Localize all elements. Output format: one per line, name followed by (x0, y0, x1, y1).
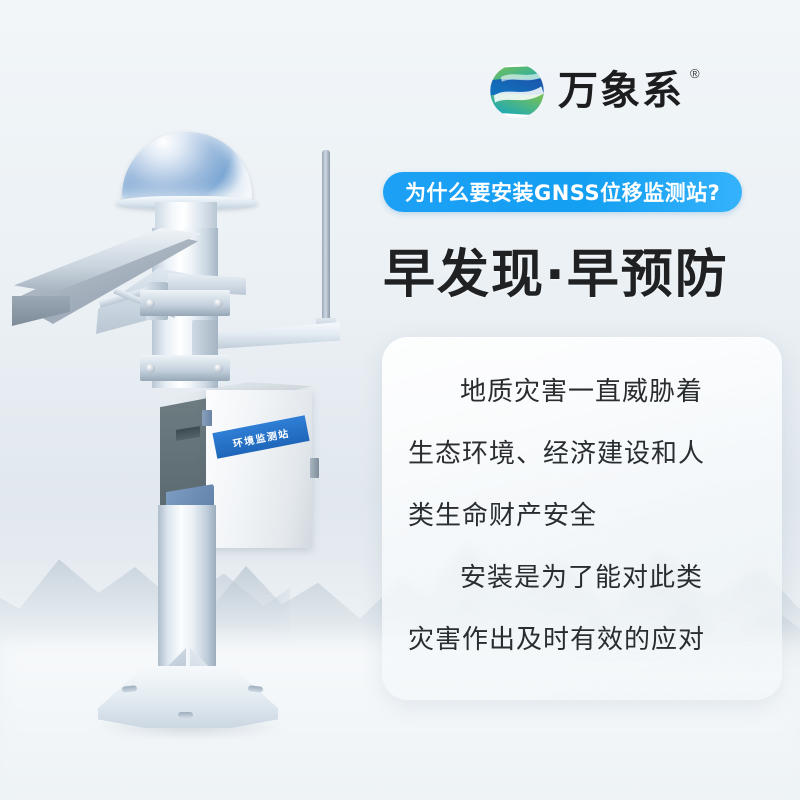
base-mounting-plate (98, 666, 278, 728)
description-line: 地质灾害一直威胁着 (408, 379, 756, 405)
crossarm-clamp (192, 320, 218, 356)
enclosure-label-text: 环境监测站 (231, 424, 290, 450)
page-title: 早发现·早预防 (383, 232, 729, 307)
question-banner-text: 为什么要安装GNSS位移监测站? (405, 177, 720, 207)
description-line: 类生命财产安全 (408, 503, 756, 529)
mounting-crossarm (200, 322, 340, 350)
description-line: 灾害作出及时有效的应对 (408, 627, 756, 653)
description-card: 地质灾害一直威胁着 生态环境、经济建设和人 类生命财产安全 安装是为了能对此类 … (382, 337, 782, 700)
poster-canvas: 环境监测站 (0, 0, 800, 800)
base-bolt-slot (178, 712, 193, 718)
description-line: 生态环境、经济建设和人 (408, 441, 756, 467)
description-card-body: 地质灾害一直威胁着 生态环境、经济建设和人 类生命财产安全 安装是为了能对此类 … (382, 337, 782, 700)
mast-clamp-lower (140, 355, 230, 381)
gnss-monitoring-station-illustration: 环境监测站 (0, 0, 380, 800)
support-mast-lower (158, 505, 216, 690)
clamp-bolt (214, 364, 223, 373)
registered-trademark-icon: ® (690, 66, 700, 81)
whip-antenna-icon (322, 150, 330, 326)
enclosure-front-face (206, 390, 312, 548)
clamp-bolt (214, 299, 223, 308)
enclosure-latch (310, 458, 319, 478)
gnss-dome-antenna-icon (122, 132, 252, 202)
enclosure-hinge-upper (202, 410, 212, 426)
solar-panel-thickness (12, 296, 70, 326)
question-banner: 为什么要安装GNSS位移监测站? (383, 172, 742, 212)
clamp-bolt (146, 299, 155, 308)
brand-lockup: 万象系 ® (488, 62, 700, 120)
clamp-bolt (146, 364, 155, 373)
globe-swoosh-logo-icon (488, 62, 546, 120)
brand-name: 万象系 (558, 71, 684, 111)
mast-clamp-upper (140, 290, 230, 316)
description-line: 安装是为了能对此类 (408, 565, 756, 591)
